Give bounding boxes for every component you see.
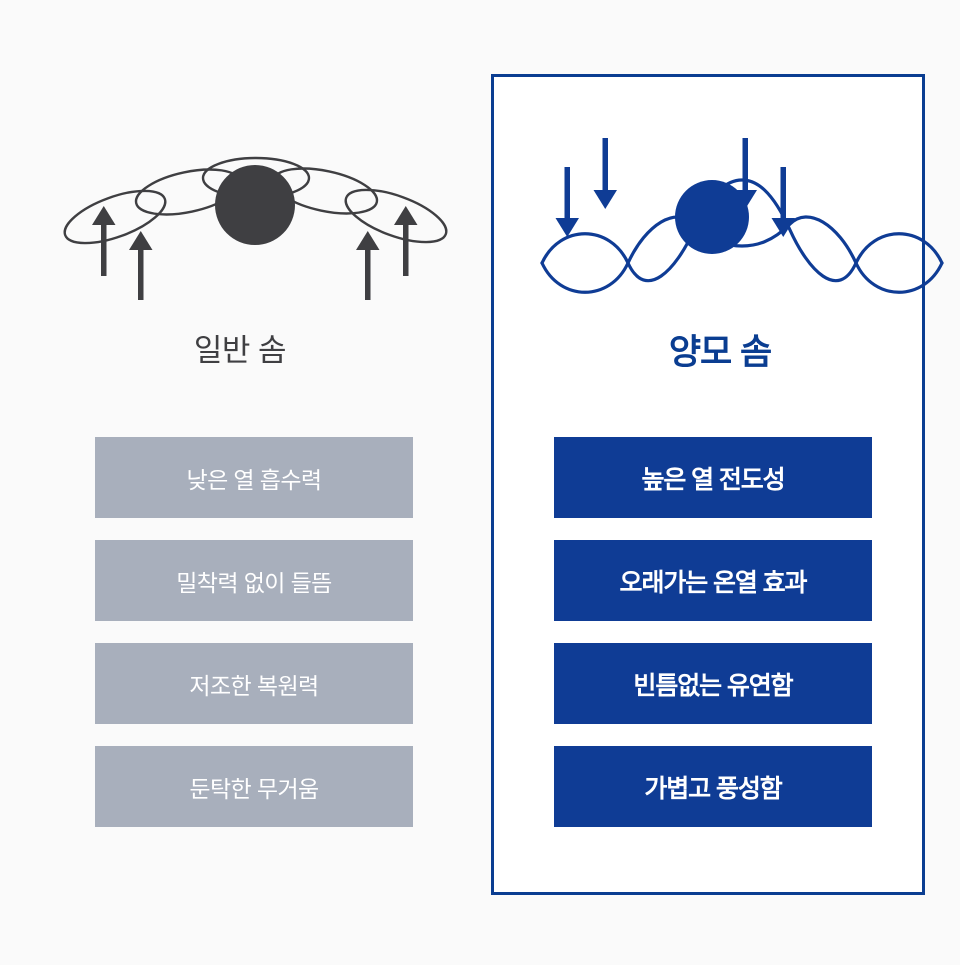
wool-cotton-illustration (480, 120, 960, 310)
feature-chip-standard-4: 둔탁한 무거움 (95, 746, 413, 827)
feature-list-standard: 낮은 열 흡수력 밀착력 없이 들뜸 저조한 복원력 둔탁한 무거움 (95, 437, 413, 827)
heat-core-circle (215, 165, 295, 245)
heat-arrow-up-1 (92, 206, 116, 276)
heat-arrow-up-2 (129, 231, 153, 300)
feature-chip-wool-3: 빈틈없는 유연함 (554, 643, 872, 724)
standard-cotton-illustration (0, 120, 480, 310)
feature-chip-standard-1: 낮은 열 흡수력 (95, 437, 413, 518)
feature-list-wool: 높은 열 전도성 오래가는 온열 효과 빈틈없는 유연함 가볍고 풍성함 (554, 437, 872, 827)
feature-chip-wool-2: 오래가는 온열 효과 (554, 540, 872, 621)
column-wool-cotton: 양모 솜 높은 열 전도성 오래가는 온열 효과 빈틈없는 유연함 가볍고 풍성… (480, 0, 960, 965)
heat-arrow-down-2 (594, 138, 618, 209)
heat-arrow-down-1 (556, 167, 580, 237)
column-title-standard: 일반 솜 (0, 332, 480, 369)
fiber-ellipse-far-right (339, 179, 452, 253)
infographic-stage: 일반 솜 낮은 열 흡수력 밀착력 없이 들뜸 저조한 복원력 둔탁한 무거움 (0, 0, 960, 965)
fiber-ellipse-far-left (58, 180, 171, 254)
heat-arrow-up-3 (356, 231, 380, 300)
column-title-wool: 양모 솜 (480, 332, 960, 374)
column-standard-cotton: 일반 솜 낮은 열 흡수력 밀착력 없이 들뜸 저조한 복원력 둔탁한 무거움 (0, 0, 480, 965)
feature-chip-wool-4: 가볍고 풍성함 (554, 746, 872, 827)
feature-chip-standard-3: 저조한 복원력 (95, 643, 413, 724)
feature-chip-wool-1: 높은 열 전도성 (554, 437, 872, 518)
feature-chip-standard-2: 밀착력 없이 들뜸 (95, 540, 413, 621)
